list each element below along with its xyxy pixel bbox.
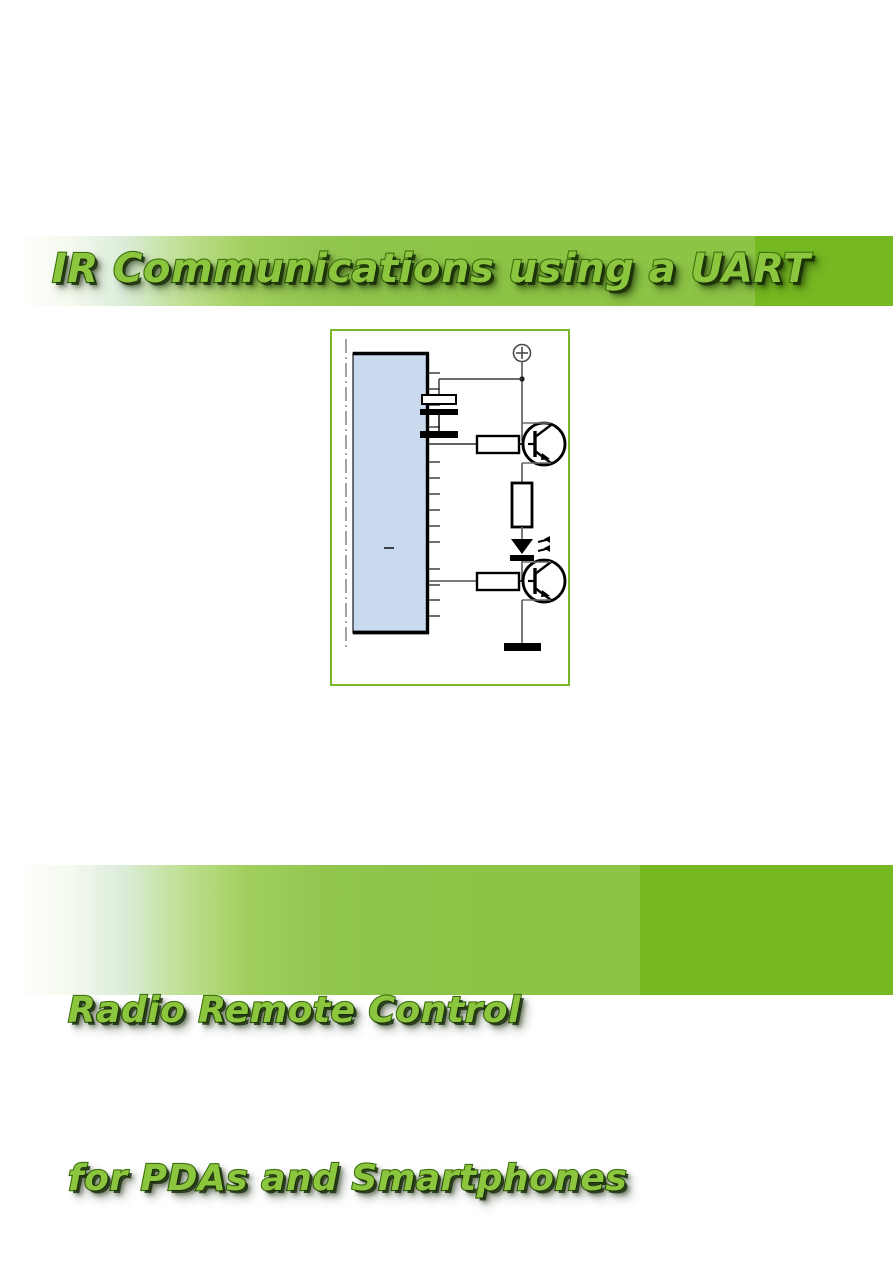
led-arrow-head-1 (544, 536, 550, 543)
led-cathode-bar (510, 555, 534, 561)
base-resistor-upper-body (477, 436, 519, 453)
slide-page: IR Communications using a UART (0, 0, 893, 1263)
capacitor-middle-plate (420, 409, 458, 415)
page-title: IR Communications using a UART (52, 238, 811, 300)
ic-body-rect (353, 353, 428, 633)
bottom-title: Radio Remote Control for PDAs and Smartp… (68, 871, 627, 1263)
bottom-title-line-2: for PDAs and Smartphones (68, 1151, 627, 1207)
led-arrow-head-2 (544, 545, 550, 552)
bottom-title-line-1: Radio Remote Control (68, 983, 627, 1039)
npn-transistor-lower (523, 560, 565, 602)
led-series-resistor-body (512, 483, 532, 527)
led-triangle (511, 539, 533, 554)
capacitor-top-plate (422, 395, 456, 404)
ground-symbol (504, 643, 541, 651)
infrared-led (510, 536, 550, 561)
circuit-schematic-svg (332, 331, 568, 684)
circuit-diagram-figure (330, 329, 570, 686)
base-resistor-lower-body (477, 573, 519, 590)
capacitor-bottom-plate (420, 431, 458, 438)
npn-transistor-upper (523, 423, 565, 465)
